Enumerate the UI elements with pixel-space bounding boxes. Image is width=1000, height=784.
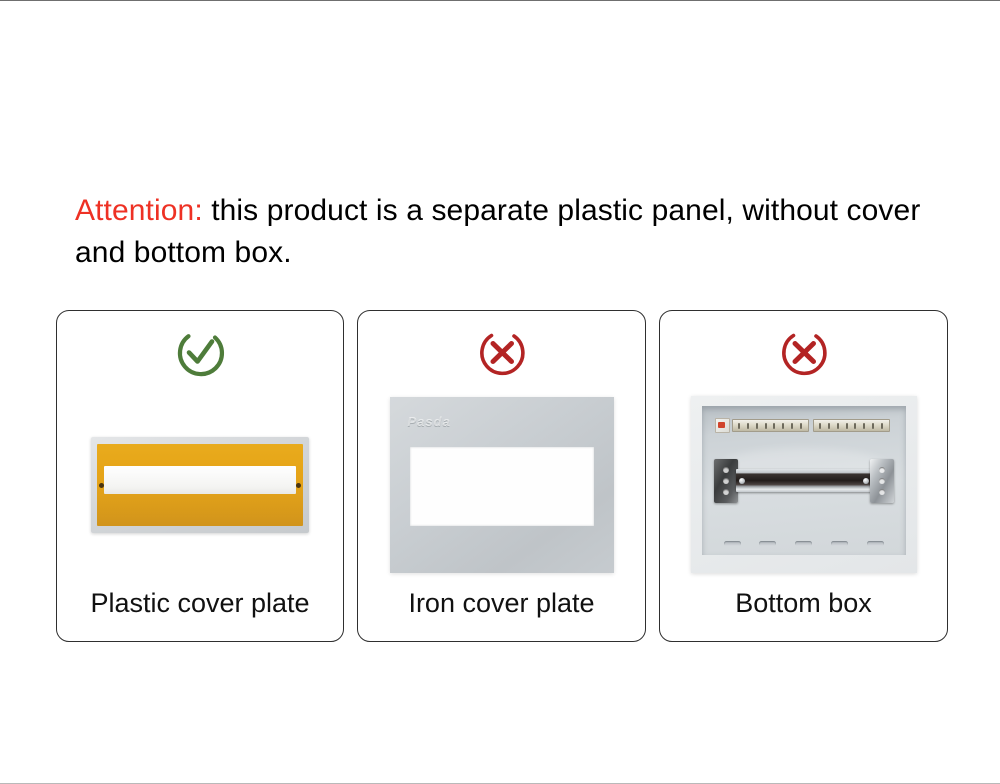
din-rail-screw-right bbox=[863, 478, 869, 484]
din-rail-bracket-right bbox=[870, 459, 894, 503]
bottom-box-body bbox=[691, 396, 917, 573]
card-caption-plastic-cover-plate: Plastic cover plate bbox=[57, 587, 343, 641]
comparison-card-iron-cover-plate: Pasda Iron cover plate bbox=[357, 310, 646, 642]
bottom-box-terminal-blocks bbox=[732, 419, 890, 432]
bottom-box-knockout-slots bbox=[724, 541, 884, 547]
green-check-circle-icon bbox=[171, 324, 229, 382]
bottom-box-image bbox=[660, 382, 947, 587]
iron-cover-plate-image: Pasda bbox=[358, 382, 645, 587]
din-rail-screw-left bbox=[739, 478, 745, 484]
iron-plate-cutout bbox=[410, 447, 594, 526]
terminal-block bbox=[732, 419, 809, 432]
bottom-box-interior bbox=[702, 406, 906, 555]
product-comparison-row: Plastic cover plate Pasda Iron cover pla… bbox=[56, 310, 948, 642]
din-rail-bracket-left bbox=[714, 459, 738, 503]
card-caption-iron-cover-plate: Iron cover plate bbox=[358, 587, 645, 641]
plastic-plate-frame bbox=[91, 437, 309, 533]
attention-notice: Attention: this product is a separate pl… bbox=[75, 190, 935, 274]
knockout-slot bbox=[831, 541, 848, 546]
plastic-plate-screw-right bbox=[296, 483, 301, 488]
knockout-slot bbox=[759, 541, 776, 546]
plastic-plate-screw-left bbox=[99, 483, 104, 488]
red-cross-circle-icon bbox=[775, 324, 833, 382]
attention-body-text: this product is a separate plastic panel… bbox=[75, 194, 920, 269]
iron-plate-embossed-logo: Pasda bbox=[408, 414, 451, 429]
bottom-box-warning-label bbox=[715, 418, 730, 433]
din-rail bbox=[736, 469, 872, 492]
bottom-box-din-rail-assembly bbox=[708, 459, 900, 503]
plastic-cover-plate-image bbox=[57, 382, 343, 587]
iron-plate-body: Pasda bbox=[390, 397, 614, 573]
terminal-block bbox=[813, 419, 890, 432]
comparison-card-plastic-cover-plate: Plastic cover plate bbox=[56, 310, 344, 642]
attention-label: Attention: bbox=[75, 194, 203, 227]
knockout-slot bbox=[867, 541, 884, 546]
comparison-card-bottom-box: Bottom box bbox=[659, 310, 948, 642]
top-divider-rule bbox=[0, 0, 1000, 1]
plastic-plate-amber-window bbox=[97, 444, 303, 526]
red-cross-circle-icon bbox=[473, 324, 531, 382]
plastic-plate-white-strip bbox=[104, 466, 296, 495]
knockout-slot bbox=[724, 541, 741, 546]
card-caption-bottom-box: Bottom box bbox=[660, 587, 947, 641]
knockout-slot bbox=[795, 541, 812, 546]
